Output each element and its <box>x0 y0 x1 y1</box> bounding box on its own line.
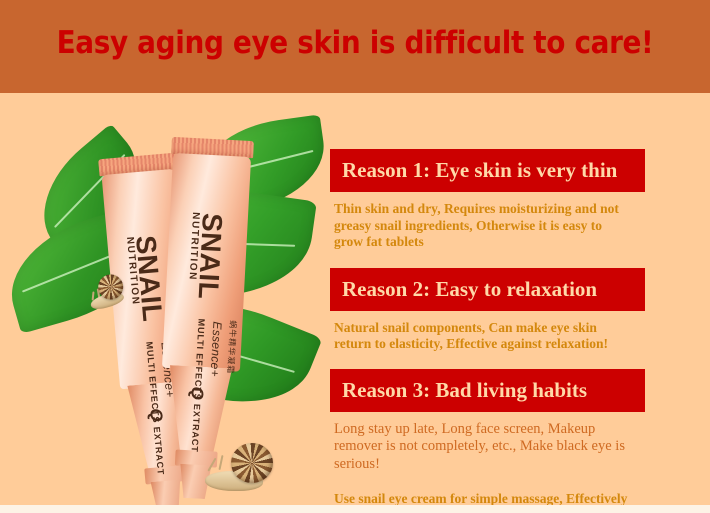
tube-nozzle <box>151 479 183 505</box>
reasons-list: Reason 1: Eye skin is very thin Thin ski… <box>330 149 646 505</box>
tube-essence-text: Essence+ <box>208 321 225 377</box>
promo-infographic: Easy aging eye skin is difficult to care… <box>0 0 710 513</box>
tube-logo-icon: Q <box>186 386 207 400</box>
product-artwork: SNAIL NUTRITION Essence+ MULTI EFFECTS E… <box>0 93 330 505</box>
reason-heading-1: Reason 1: Eye skin is very thin <box>342 157 645 183</box>
reason-heading-bar-1: Reason 1: Eye skin is very thin <box>330 149 645 192</box>
product-tube-right: SNAIL NUTRITION Essence+ MULTI EFFECTS E… <box>156 137 254 451</box>
reason-callout-3: Use snail eye cream for simple massage, … <box>330 483 634 505</box>
reason-item-1: Reason 1: Eye skin is very thin Thin ski… <box>330 149 646 251</box>
reason-heading-bar-3: Reason 3: Bad living habits <box>330 369 645 412</box>
reason-body-3: Long stay up late, Long face screen, Mak… <box>330 412 634 474</box>
reason-heading-2: Reason 2: Easy to relaxation <box>342 276 645 302</box>
page-title: Easy aging eye skin is difficult to care… <box>36 23 675 63</box>
snail-icon <box>205 443 277 495</box>
content-panel: SNAIL NUTRITION Essence+ MULTI EFFECTS E… <box>0 93 710 505</box>
reason-body-1: Thin skin and dry, Requires moisturizing… <box>330 192 634 251</box>
header-band: Easy aging eye skin is difficult to care… <box>0 0 710 93</box>
reason-heading-bar-2: Reason 2: Easy to relaxation <box>330 268 645 311</box>
reason-body-2: Natural snail components, Can make eye s… <box>330 311 634 353</box>
reason-item-2: Reason 2: Easy to relaxation Natural sna… <box>330 268 646 353</box>
reason-item-3: Reason 3: Bad living habits Long stay up… <box>330 369 646 506</box>
bottom-strip <box>0 505 710 513</box>
reason-heading-3: Reason 3: Bad living habits <box>342 377 645 403</box>
